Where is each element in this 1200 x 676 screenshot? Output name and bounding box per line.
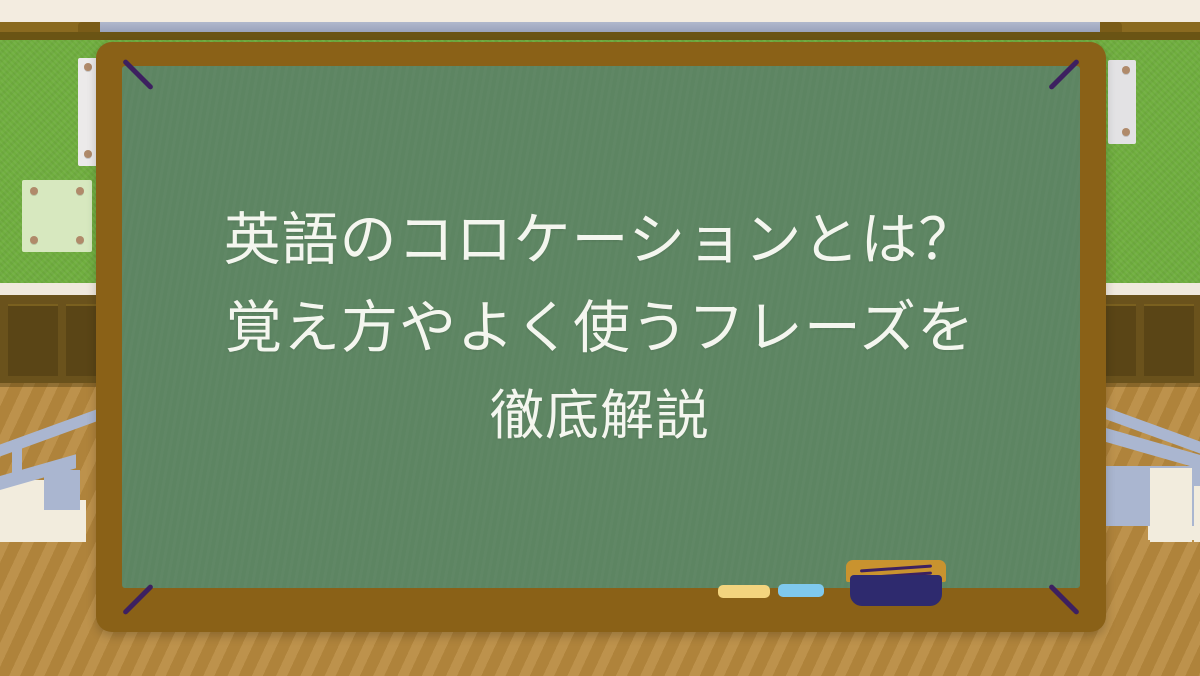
blackboard-eraser bbox=[846, 560, 946, 606]
chalk-blue bbox=[778, 584, 824, 597]
pushpin-icon bbox=[76, 187, 84, 195]
pinboard-top-edge bbox=[0, 32, 1200, 40]
cabinet-door bbox=[8, 304, 58, 376]
pushpin-icon bbox=[76, 236, 84, 244]
pushpin-icon bbox=[30, 236, 38, 244]
corner-mark-bottom-right-icon bbox=[1048, 584, 1080, 616]
screenshot-canvas: 英語のコロケーションとは？ 覚え方やよく使うフレーズを 徹底解説 bbox=[0, 0, 1200, 676]
poster-white-left bbox=[78, 58, 98, 166]
chalk-yellow bbox=[718, 585, 770, 598]
wall-upper bbox=[0, 0, 1200, 22]
pushpin-icon bbox=[84, 63, 92, 71]
title-line-1: 英語のコロケーションとは？ bbox=[150, 196, 1050, 284]
poster-white-right bbox=[1108, 60, 1136, 144]
title-line-3: 徹底解説 bbox=[150, 372, 1050, 460]
cabinet-door bbox=[1144, 304, 1194, 376]
title-line-2: 覚え方やよく使うフレーズを bbox=[150, 284, 1050, 372]
page-title: 英語のコロケーションとは？ 覚え方やよく使うフレーズを 徹底解説 bbox=[150, 196, 1050, 460]
corner-mark-bottom-left-icon bbox=[122, 584, 154, 616]
pushpin-icon bbox=[1122, 66, 1130, 74]
eraser-body bbox=[850, 575, 942, 606]
poster-green-left bbox=[22, 180, 92, 252]
pushpin-icon bbox=[1122, 128, 1130, 136]
pushpin-icon bbox=[84, 150, 92, 158]
pushpin-icon bbox=[30, 187, 38, 195]
